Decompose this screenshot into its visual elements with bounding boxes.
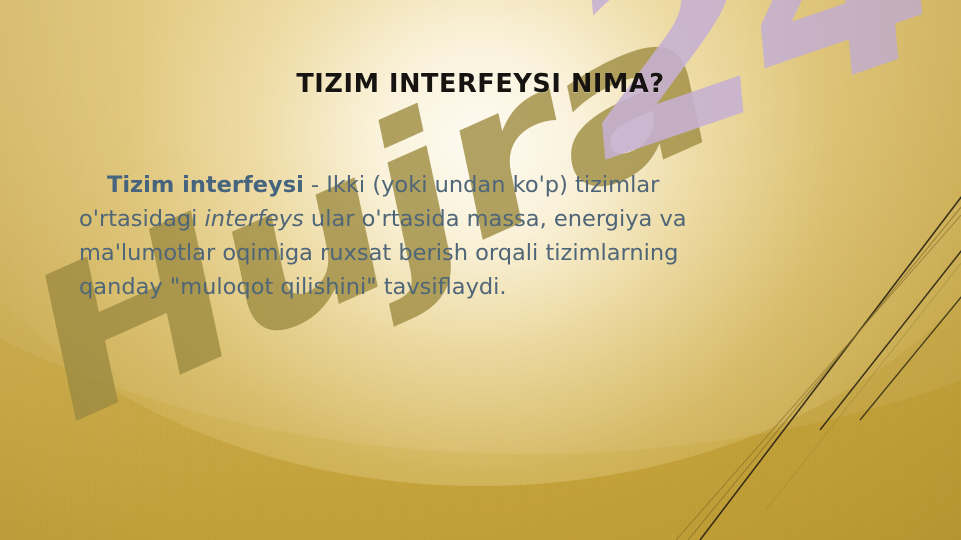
body-emphasis-italic: interfeys: [205, 206, 304, 232]
slide-title: TIZIM INTERFEYSI NIMA?: [0, 69, 961, 99]
slide-canvas: Hujra 24 TIZIM INTERFEYSI NIMA? Tizim in…: [0, 0, 961, 540]
slide-body-text: Tizim interfeysi - Ikki (yoki undan ko'p…: [79, 168, 754, 304]
body-lead-bold: Tizim interfeysi: [107, 172, 304, 198]
